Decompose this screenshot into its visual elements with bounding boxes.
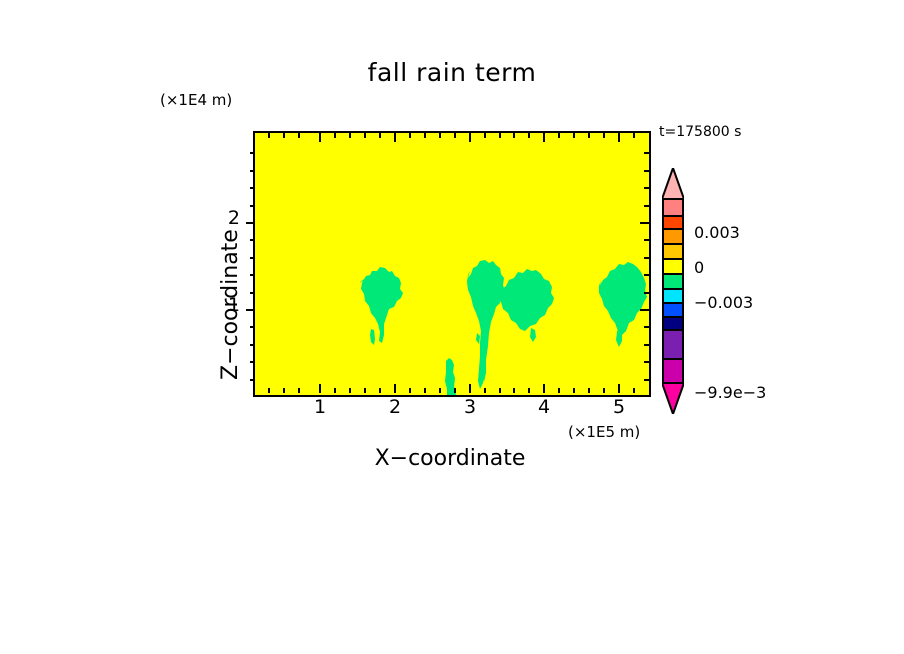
colorbar-label-3: −9.9e−3 (694, 383, 766, 402)
time-annotation: t=175800 s (659, 124, 741, 140)
colorbar-band-magenta (664, 360, 682, 384)
colorbar-band-green (664, 275, 682, 290)
y-axis-unit-label: (×1E4 m) (160, 91, 232, 109)
scalar-field-render (255, 133, 649, 395)
colorbar-bottom-arrow-icon (662, 383, 684, 414)
page-title: fall rain term (0, 58, 904, 87)
y-tick-label-2: 2 (214, 207, 240, 229)
colorbar-band-navy (664, 318, 682, 331)
figure-canvas: fall rain term (×1E4 m) t=175800 s (0, 0, 904, 654)
colorbar-label-1: 0 (694, 258, 704, 277)
colorbar-band-gold (664, 245, 682, 260)
plot-area (253, 131, 651, 397)
colorbar-band-orange (664, 230, 682, 245)
x-tick-label-3: 3 (455, 396, 485, 418)
colorbar-band-blue (664, 304, 682, 318)
colorbar-band-cyan (664, 290, 682, 304)
colorbar-label-0: 0.003 (694, 223, 740, 242)
x-axis-unit-label: (×1E5 m) (568, 423, 640, 441)
colorbar-band-yellow (664, 260, 682, 275)
colorbar-label-2: −0.003 (694, 293, 753, 312)
x-axis-title: X−coordinate (253, 446, 647, 471)
colorbar-bands (662, 198, 684, 384)
colorbar-top-arrow-icon (662, 168, 684, 199)
colorbar-band-salmon (664, 200, 682, 217)
x-tick-label-2: 2 (380, 396, 410, 418)
colorbar-band-orange-red (664, 217, 682, 230)
y-axis-title: Z−coordinate (218, 229, 243, 380)
colorbar-band-purple (664, 331, 682, 360)
x-tick-label-1: 1 (305, 396, 335, 418)
colorbar[interactable] (660, 168, 690, 414)
x-tick-label-5: 5 (604, 396, 634, 418)
x-tick-label-4: 4 (529, 396, 559, 418)
